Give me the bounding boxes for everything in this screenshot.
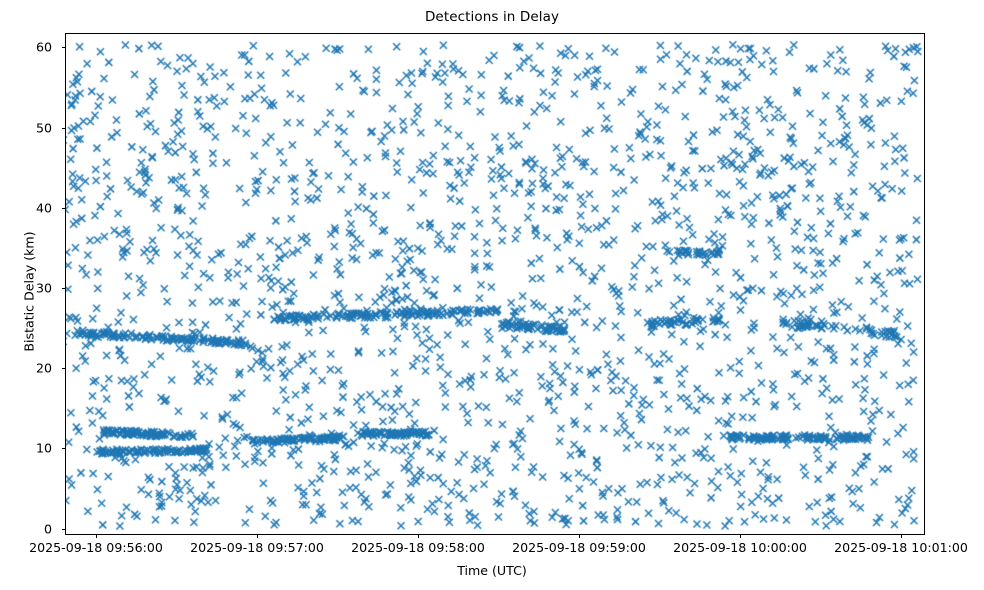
y-tick-label-0: 0 — [44, 521, 52, 536]
x-tick-label-2: 2025-09-18 09:58:00 — [351, 540, 485, 555]
y-tick-label-40: 40 — [36, 200, 52, 215]
x-tick-mark — [257, 534, 258, 538]
x-tick-label-5: 2025-09-18 10:01:00 — [834, 540, 968, 555]
y-tick-mark — [62, 529, 66, 530]
y-tick-mark — [62, 128, 66, 129]
y-tick-label-20: 20 — [36, 361, 52, 376]
y-tick-label-50: 50 — [36, 120, 52, 135]
x-tick-mark — [901, 534, 902, 538]
figure-canvas: Detections in Delay 0102030405060 2025-0… — [0, 0, 984, 590]
y-tick-mark — [62, 368, 66, 369]
x-axis-label: Time (UTC) — [0, 563, 984, 578]
plot-area[interactable] — [65, 33, 925, 535]
y-tick-mark — [62, 288, 66, 289]
scatter-points-layer — [66, 34, 925, 535]
x-tick-mark — [579, 534, 580, 538]
x-tick-label-1: 2025-09-18 09:57:00 — [190, 540, 324, 555]
x-tick-mark — [418, 534, 419, 538]
x-tick-label-3: 2025-09-18 09:59:00 — [512, 540, 646, 555]
y-tick-label-30: 30 — [36, 281, 52, 296]
x-tick-label-4: 2025-09-18 10:00:00 — [673, 540, 807, 555]
x-tick-mark — [740, 534, 741, 538]
y-tick-mark — [62, 47, 66, 48]
chart-title: Detections in Delay — [0, 9, 984, 25]
y-axis-label: Bistatic Delay (km) — [22, 182, 37, 402]
y-tick-label-10: 10 — [36, 441, 52, 456]
y-tick-mark — [62, 208, 66, 209]
y-tick-label-60: 60 — [36, 40, 52, 55]
x-tick-label-0: 2025-09-18 09:56:00 — [29, 540, 163, 555]
x-tick-mark — [96, 534, 97, 538]
y-tick-mark — [62, 448, 66, 449]
